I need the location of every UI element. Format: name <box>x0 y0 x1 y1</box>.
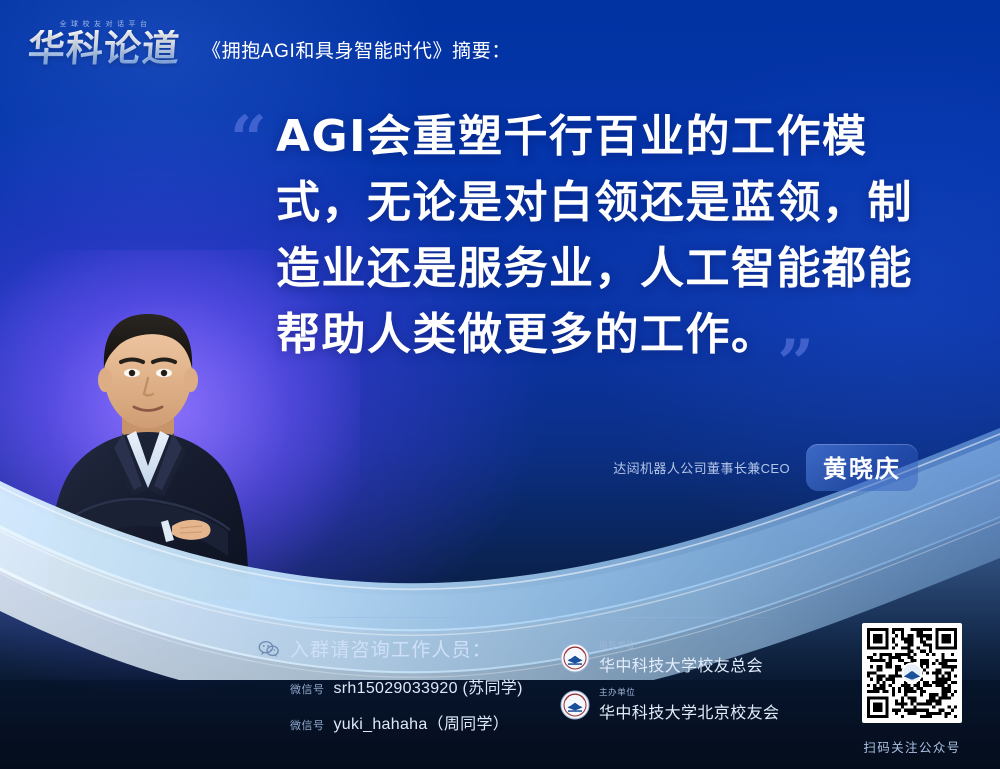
quote-close-mark: ” <box>777 332 814 396</box>
contact-title: 入群请咨询工作人员： <box>290 635 492 662</box>
footer-divider <box>285 617 785 618</box>
footer-section: 入群请咨询工作人员： 微信号 srh15029033920 (苏同学) 微信号 … <box>0 609 1000 769</box>
organization-row: 指导单位 华中科技大学校友总会 <box>560 639 779 676</box>
speaker-role: 达闼机器人公司董事长兼CEO <box>613 458 790 477</box>
quote-text: AGI会重塑千行百业的工作模式，无论是对白领还是蓝领，制造业还是服务业，人工智能… <box>276 104 942 368</box>
organization-kind: 指导单位 <box>599 639 763 651</box>
wechat-contact-row: 微信号 yuki_hahaha（周同学） <box>290 710 523 734</box>
wechat-icon <box>258 640 280 658</box>
qr-code-icon[interactable] <box>862 623 962 723</box>
contact-block: 入群请咨询工作人员： 微信号 srh15029033920 (苏同学) 微信号 … <box>258 635 523 734</box>
quote-block: “ AGI会重塑千行百业的工作模式，无论是对白领还是蓝领，制造业还是服务业，人工… <box>228 104 948 368</box>
brand-logo: 全球校友对话平台 华科论道 <box>28 19 180 67</box>
wechat-label: 微信号 <box>290 717 325 733</box>
page-title: 《拥抱AGI和具身智能时代》摘要： <box>202 36 511 63</box>
attribution: 达闼机器人公司董事长兼CEO 黄晓庆 <box>613 444 918 491</box>
poster-canvas: 全球校友对话平台 华科论道 《拥抱AGI和具身智能时代》摘要： <box>0 0 1000 769</box>
quote-open-mark: “ <box>230 108 267 172</box>
wechat-value[interactable]: srh15029033920 (苏同学) <box>334 674 523 698</box>
university-emblem-icon <box>560 643 590 673</box>
logo-wordmark: 华科论道 <box>27 30 182 67</box>
organization-name: 华中科技大学校友总会 <box>599 652 763 676</box>
header-bar: 全球校友对话平台 华科论道 《拥抱AGI和具身智能时代》摘要： <box>0 0 1000 86</box>
qr-caption: 扫码关注公众号 <box>852 737 972 756</box>
organization-name: 华中科技大学北京校友会 <box>599 699 779 723</box>
wechat-contact-row: 微信号 srh15029033920 (苏同学) <box>290 674 523 698</box>
organization-text: 主办单位 华中科技大学北京校友会 <box>599 686 779 723</box>
qr-block: 扫码关注公众号 <box>852 623 972 756</box>
contact-heading: 入群请咨询工作人员： <box>258 635 523 662</box>
organization-row: 主办单位 华中科技大学北京校友会 <box>560 686 779 723</box>
university-emblem-icon <box>560 690 590 720</box>
wechat-label: 微信号 <box>290 681 325 697</box>
organization-kind: 主办单位 <box>599 686 779 698</box>
wechat-value[interactable]: yuki_hahaha（周同学） <box>334 710 510 734</box>
organizations-block: 指导单位 华中科技大学校友总会 主办单位 华中科技大学北京校友 <box>560 639 779 733</box>
organization-text: 指导单位 华中科技大学校友总会 <box>599 639 763 676</box>
speaker-name-badge: 黄晓庆 <box>806 444 918 491</box>
